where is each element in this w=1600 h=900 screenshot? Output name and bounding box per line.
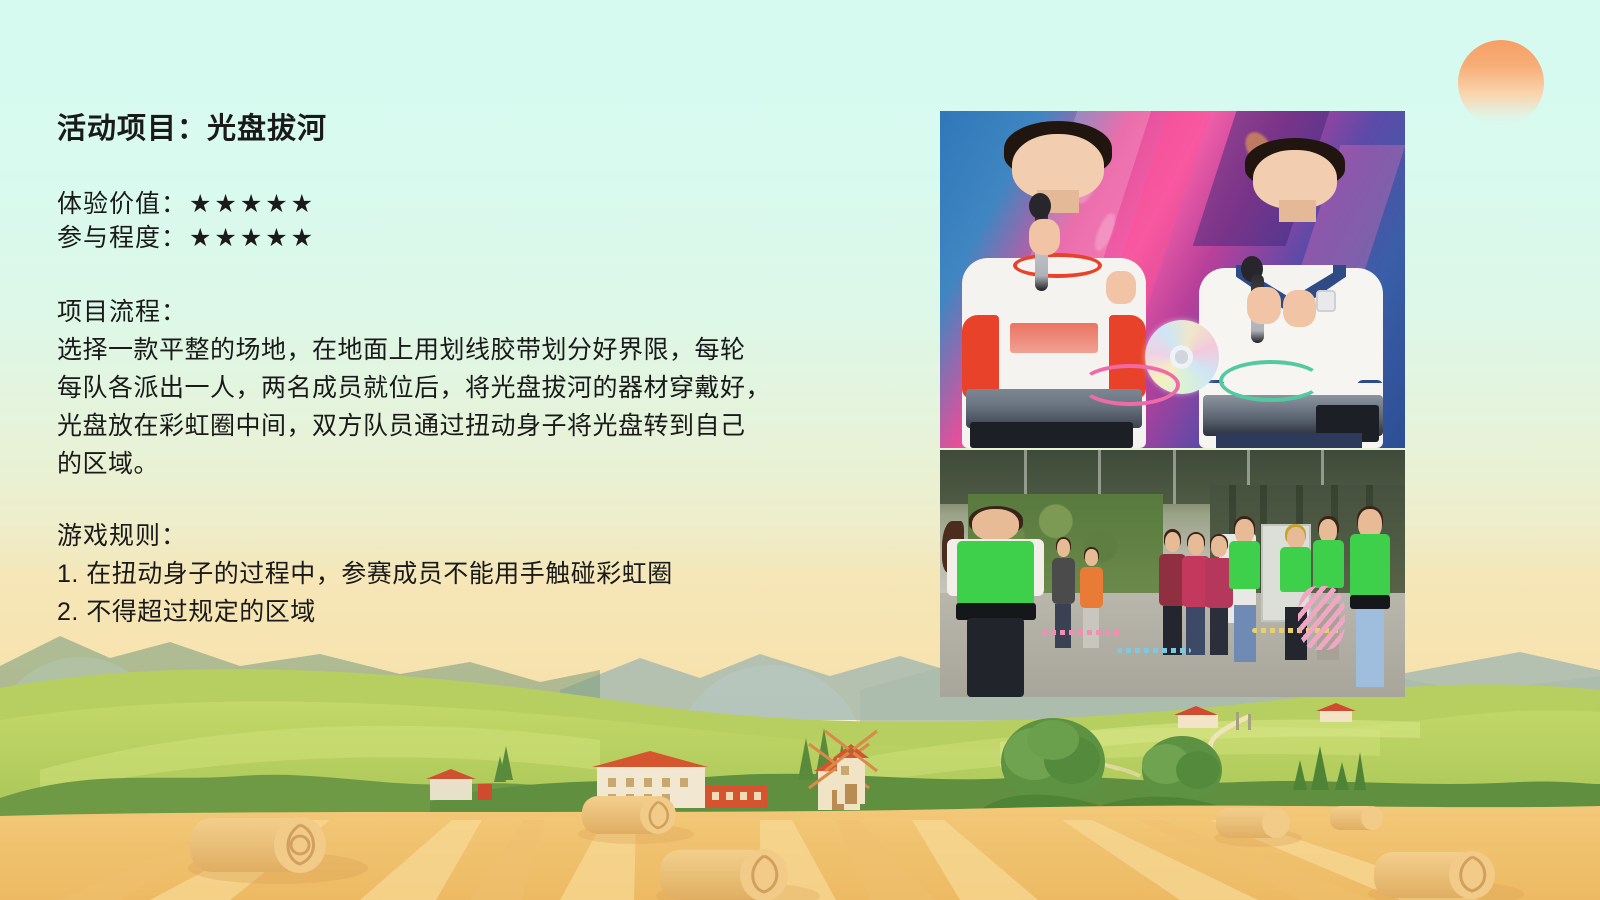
hand — [1029, 219, 1060, 255]
flow-section: 项目流程： 选择一款平整的场地，在地面上用划线胶带划分好界限，每轮 每队各派出一… — [57, 293, 887, 483]
stage-photo — [940, 111, 1405, 448]
flow-line-2: 每队各派出一人，两名成员就位后，将光盘拔河的器材穿戴好， — [57, 369, 887, 407]
waist-belt — [1350, 595, 1390, 609]
jeans — [1356, 609, 1384, 687]
rainbow-spring-pink — [1042, 630, 1121, 635]
rules-heading: 游戏规则： — [57, 517, 887, 555]
participant — [1228, 519, 1261, 662]
sun-icon — [1458, 40, 1544, 126]
face — [1057, 539, 1070, 557]
participant — [1349, 509, 1391, 687]
rule-item-1: 1. 在扭动身子的过程中，参赛成员不能用手触碰彩虹圈 — [57, 555, 887, 593]
orange-vest — [1080, 567, 1103, 608]
flow-line-3: 光盘放在彩虹圈中间，双方队员通过扭动身子将光盘转到自己 — [57, 407, 887, 445]
sleeve-left — [962, 315, 999, 398]
pants — [967, 618, 1024, 697]
slide-canvas: 活动项目：光盘拔河 体验价值： ★★★★★ 参与程度： ★★★★★ 项目流程： … — [0, 0, 1600, 900]
participant-foreground — [954, 509, 1038, 697]
wristwatch — [1316, 290, 1336, 312]
face — [1085, 549, 1098, 566]
pants — [1083, 608, 1099, 648]
rating-row-experience: 体验价值： ★★★★★ — [57, 187, 887, 221]
flow-line-4: 的区域。 — [57, 445, 887, 483]
rules-section: 游戏规则： 1. 在扭动身子的过程中，参赛成员不能用手触碰彩虹圈 2. 不得超过… — [57, 517, 887, 631]
pants — [1210, 608, 1229, 655]
rainbow-spring-blue — [1117, 648, 1191, 653]
host-right-figure — [1186, 138, 1395, 448]
rainbow-coil-pink — [1080, 364, 1180, 406]
face — [1235, 519, 1253, 543]
green-vest — [1313, 540, 1344, 588]
flow-heading: 项目流程： — [57, 293, 887, 331]
green-vest — [1229, 541, 1260, 590]
cuff-stripe — [1357, 380, 1383, 385]
rating-label-experience: 体验价值： — [57, 187, 187, 221]
hand — [1283, 290, 1316, 327]
collar — [1013, 253, 1102, 278]
flow-line-1: 选择一款平整的场地，在地面上用划线胶带划分好界限，每轮 — [57, 331, 887, 369]
hand — [1247, 287, 1280, 324]
rating-stars-participation: ★★★★★ — [189, 221, 316, 255]
rating-label-participation: 参与程度： — [57, 221, 187, 255]
hand — [1106, 271, 1135, 304]
face — [1188, 534, 1204, 555]
green-vest — [1350, 534, 1390, 598]
neck — [1279, 200, 1317, 222]
vest — [1052, 558, 1075, 604]
face — [1211, 536, 1227, 556]
rating-row-participation: 参与程度： ★★★★★ — [57, 221, 887, 255]
text-content-column: 活动项目：光盘拔河 体验价值： ★★★★★ 参与程度： ★★★★★ 项目流程： … — [57, 112, 887, 631]
face — [1165, 532, 1181, 553]
pants — [1216, 433, 1362, 449]
jeans — [1234, 605, 1256, 662]
rainbow-spring-orange — [1298, 586, 1345, 650]
face — [972, 509, 1019, 541]
windmill-icon — [805, 718, 895, 808]
green-vest — [1280, 547, 1311, 592]
page-title: 活动项目：光盘拔河 — [57, 112, 887, 147]
shirt-logo — [1010, 323, 1098, 353]
ratings-group: 体验价值： ★★★★★ 参与程度： ★★★★★ — [57, 187, 887, 255]
outdoor-photo — [940, 450, 1405, 697]
microphone-head — [1029, 193, 1051, 219]
rating-stars-experience: ★★★★★ — [189, 187, 316, 221]
rule-item-2: 2. 不得超过规定的区域 — [57, 593, 887, 631]
pants — [1055, 604, 1071, 647]
face — [1287, 527, 1305, 550]
belt-buckle — [970, 422, 1133, 448]
